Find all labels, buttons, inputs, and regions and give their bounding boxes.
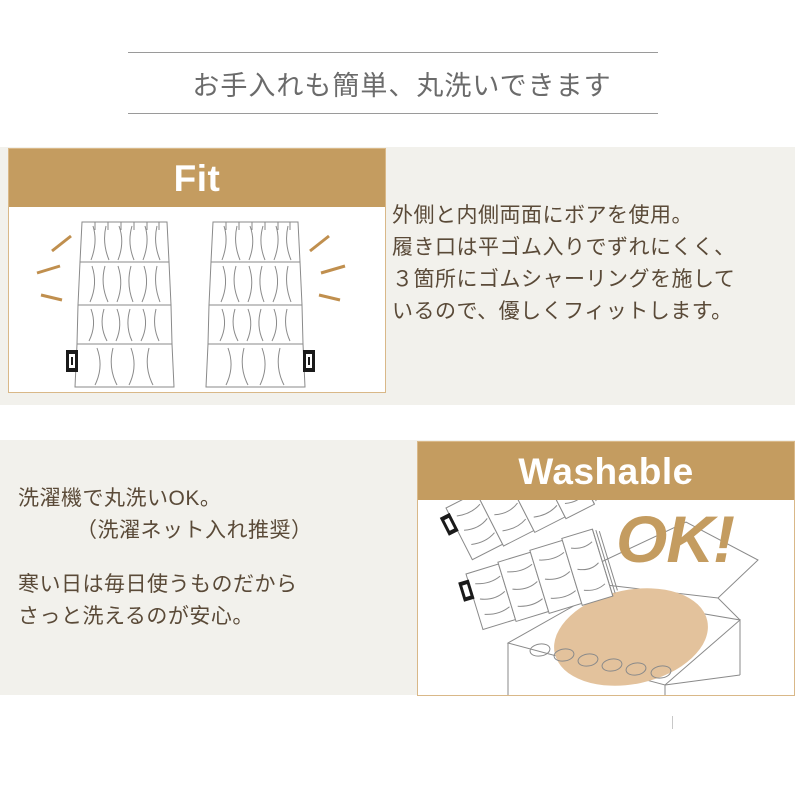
washable-illustration: OK! xyxy=(418,500,794,695)
fit-panel-title: Fit xyxy=(174,160,221,197)
washable-description-line: さっと洗えるのが安心。 xyxy=(18,601,408,633)
stray-tick-mark xyxy=(672,716,673,729)
washable-description: 洗濯機で丸洗いOK。 （洗濯ネット入れ推奨） 寒い日は毎日使うものだから さっと… xyxy=(18,483,408,633)
slipper-pair-back-view-icon xyxy=(9,207,385,392)
fit-description-line: 外側と内側両面にボアを使用。 xyxy=(392,200,792,232)
fit-illustration xyxy=(9,207,385,392)
fit-description-line: 履き口は平ゴム入りでずれにくく、 xyxy=(392,232,792,264)
washable-description-line: 寒い日は毎日使うものだから xyxy=(18,569,408,601)
page-title-text: お手入れも簡単、丸洗いできます xyxy=(174,64,611,103)
ok-badge-text: OK! xyxy=(616,502,734,576)
fit-description-line: ３箇所にゴムシャーリングを施して xyxy=(392,264,792,296)
washing-machine-with-slippers-icon: OK! xyxy=(418,500,794,695)
washable-panel: Washable xyxy=(417,441,795,696)
sparkle-dashes-left xyxy=(37,236,71,300)
washable-description-line: 洗濯機で丸洗いOK。 xyxy=(18,483,408,515)
washable-panel-title: Washable xyxy=(518,453,693,490)
heel-tag-left xyxy=(66,350,78,372)
heel-tag-right xyxy=(303,350,315,372)
washable-description-line: （洗濯ネット入れ推奨） xyxy=(18,515,408,547)
washable-panel-header: Washable xyxy=(418,442,794,500)
fit-panel: Fit xyxy=(8,148,386,393)
fit-panel-header: Fit xyxy=(9,149,385,207)
page-title: お手入れも簡単、丸洗いできます xyxy=(128,52,658,114)
fit-description: 外側と内側両面にボアを使用。 履き口は平ゴム入りでずれにくく、 ３箇所にゴムシャ… xyxy=(392,200,792,328)
description-spacer xyxy=(18,547,408,569)
fit-description-line: いるので、優しくフィットします。 xyxy=(392,296,792,328)
sparkle-dashes-right xyxy=(310,236,345,300)
